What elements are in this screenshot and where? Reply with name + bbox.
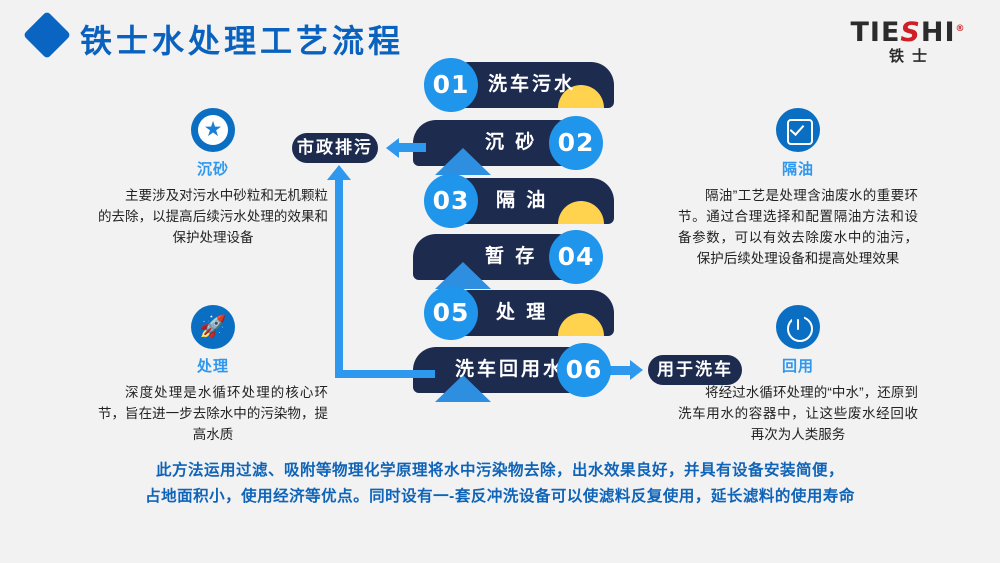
annotation-treatment: 🚀 处理 深度处理是水循环处理的核心环节，旨在进一步去除水中的污染物，提高水质: [98, 305, 328, 445]
flow-step-01[interactable]: 01 洗车污水: [424, 62, 614, 108]
arrow-to-discharge-shaft: [398, 143, 426, 152]
logo-wordmark: TIESHI®: [838, 14, 978, 48]
recycle-arrow-horizontal: [335, 370, 435, 378]
step-label-04: 暂 存: [485, 234, 537, 280]
star-icon: ★: [191, 108, 235, 152]
step-label-02: 沉 砂: [485, 120, 537, 166]
recycle-arrow-vertical: [335, 178, 343, 376]
footer-line-1: 此方法运用过滤、吸附等物理化学原理将水中污染物去除，出水效果良好，并具有设备安装…: [60, 458, 940, 484]
logo-text-s: S: [900, 17, 920, 48]
triangle-accent: [435, 262, 491, 289]
step-label-01: 洗车污水: [488, 62, 576, 108]
power-icon: [776, 305, 820, 349]
annotation-body-settling: 主要涉及对污水中砂粒和无机颗粒的去除，以提高后续污水处理的效果和保护处理设备: [98, 185, 328, 248]
logo-text-pre: TIE: [850, 17, 900, 48]
recycle-arrow-head: [327, 165, 351, 180]
annotation-title-treatment: 处理: [98, 355, 328, 376]
checkbox-icon: [776, 108, 820, 152]
step-number-03: 03: [424, 174, 478, 228]
annotation-reuse: 回用 将经过水循环处理的“中水”，还原到洗车用水的容器中，让这些废水经回收再次为…: [678, 305, 918, 445]
step-label-03: 隔 油: [496, 178, 548, 224]
step-number-05: 05: [424, 286, 478, 340]
rocket-icon-glyph: 🚀: [191, 305, 235, 349]
triangle-accent: [435, 148, 491, 175]
footer-note: 此方法运用过滤、吸附等物理化学原理将水中污染物去除，出水效果良好，并具有设备安装…: [60, 458, 940, 510]
step-number-06: 06: [557, 343, 611, 397]
step-number-01: 01: [424, 58, 478, 112]
annotation-title-oil: 隔油: [678, 158, 918, 179]
arrow-to-reuse-head: [630, 360, 643, 380]
annotation-title-settling: 沉砂: [98, 158, 328, 179]
rocket-icon: 🚀: [191, 305, 235, 349]
registered-mark: ®: [956, 24, 966, 34]
footer-line-2: 占地面积小，使用经济等优点。同时设有一-套反冲洗设备可以使滤料反复使用，延长滤料…: [60, 484, 940, 510]
step-number-02: 02: [549, 116, 603, 170]
page-title: 铁士水处理工艺流程: [80, 16, 404, 62]
annotation-body-oil: 隔油”工艺是处理含油废水的重要环节。通过合理选择和配置隔油方法和设备参数，可以有…: [678, 185, 918, 269]
flow-step-05[interactable]: 05 处 理: [424, 290, 614, 336]
diamond-icon: [23, 11, 71, 59]
annotation-oil-separation: 隔油 隔油”工艺是处理含油废水的重要环节。通过合理选择和配置隔油方法和设备参数，…: [678, 108, 918, 269]
logo-text-post: HI: [921, 17, 956, 48]
annotation-body-treatment: 深度处理是水循环处理的核心环节，旨在进一步去除水中的污染物，提高水质: [98, 382, 328, 445]
annotation-body-reuse: 将经过水循环处理的“中水”，还原到洗车用水的容器中，让这些废水经回收再次为人类服…: [678, 382, 918, 445]
star-icon-glyph: ★: [202, 119, 224, 141]
arrow-to-discharge-head: [386, 138, 399, 158]
flow-step-03[interactable]: 03 隔 油: [424, 178, 614, 224]
power-icon-bar: [797, 319, 800, 330]
step-number-04: 04: [549, 230, 603, 284]
annotation-title-reuse: 回用: [678, 355, 918, 376]
flow-step-04[interactable]: 04 暂 存: [413, 234, 603, 280]
step-label-06: 洗车回用水: [455, 347, 565, 393]
slide-canvas: 铁士水处理工艺流程 TIESHI® 铁士 01 洗车污水 02 沉 砂 03 隔…: [0, 0, 1000, 563]
flow-step-06[interactable]: 06 洗车回用水: [413, 347, 613, 393]
step-label-05: 处 理: [496, 290, 548, 336]
flow-step-02[interactable]: 02 沉 砂: [413, 120, 603, 166]
logo-subtext: 铁士: [838, 48, 978, 66]
checkbox-icon-glyph: [787, 119, 813, 145]
brand-logo: TIESHI® 铁士: [838, 14, 978, 70]
annotation-settling: ★ 沉砂 主要涉及对污水中砂粒和无机颗粒的去除，以提高后续污水处理的效果和保护处…: [98, 108, 328, 248]
